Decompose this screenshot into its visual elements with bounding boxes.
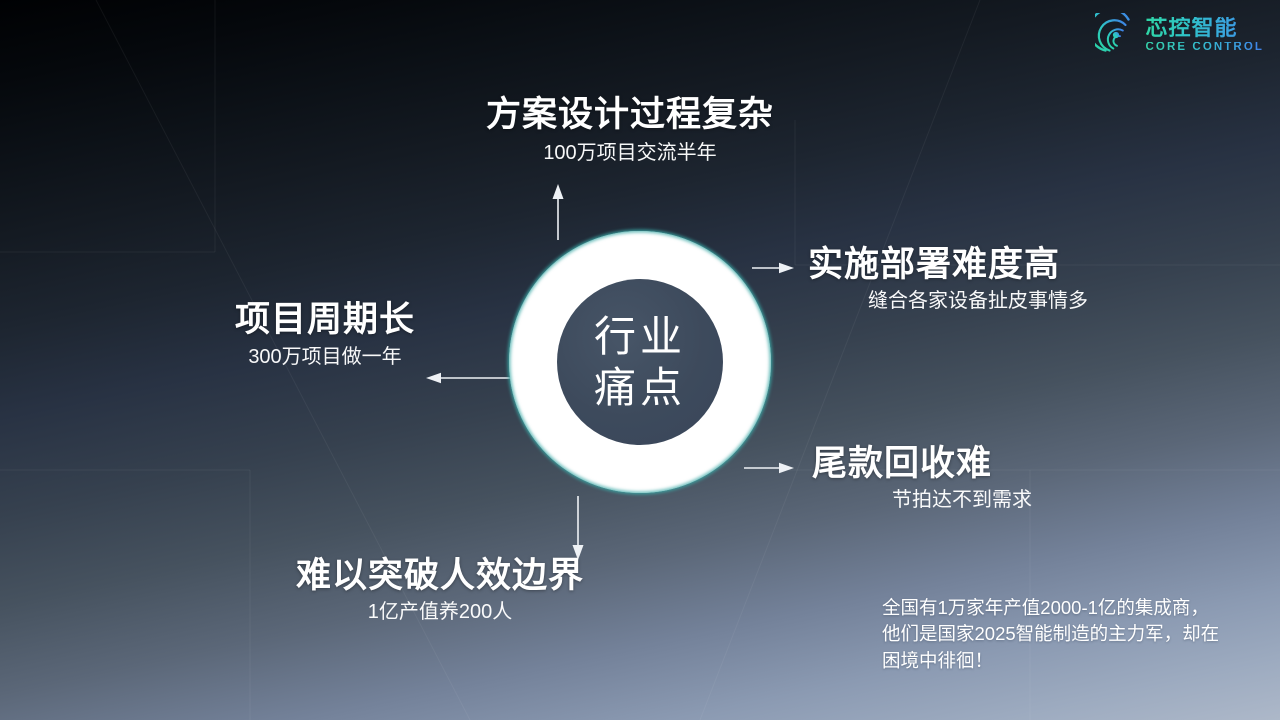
- callout-bottom: 难以突破人效边界 1亿产值养200人: [230, 556, 650, 624]
- center-ring-label: 行业 痛点: [557, 279, 723, 445]
- callout-left: 项目周期长 300万项目做一年: [160, 300, 490, 369]
- radar-waves-icon: [1095, 13, 1139, 57]
- callout-top: 方案设计过程复杂 100万项目交流半年: [400, 95, 860, 165]
- callout-left-title: 项目周期长: [160, 300, 490, 339]
- center-ring: 行业 痛点: [509, 231, 771, 493]
- footnote-text: 全国有1万家年产值2000-1亿的集成商，他们是国家2025智能制造的主力军，却…: [882, 595, 1222, 674]
- callout-right-lower-title: 尾款回收难: [812, 444, 1112, 483]
- callout-bottom-subtitle: 1亿产值养200人: [230, 600, 650, 624]
- center-label-line2: 痛点: [594, 365, 686, 410]
- callout-bottom-title: 难以突破人效边界: [230, 556, 650, 595]
- logo-english-name: CORE CONTROL: [1146, 42, 1264, 54]
- callout-left-subtitle: 300万项目做一年: [160, 345, 490, 369]
- callout-top-title: 方案设计过程复杂: [400, 95, 860, 134]
- callout-right-upper-subtitle: 缝合各家设备扯皮事情多: [808, 289, 1148, 313]
- callout-right-upper: 实施部署难度高 缝合各家设备扯皮事情多: [808, 245, 1148, 313]
- down-arrow-icon: [573, 496, 584, 560]
- slide-canvas: 芯控智能 CORE CONTROL: [0, 0, 1280, 720]
- center-label-line1: 行业: [594, 314, 686, 359]
- right-arrow-icon-upper: [752, 263, 794, 273]
- callout-right-lower-subtitle: 节拍达不到需求: [812, 488, 1112, 512]
- callout-right-lower: 尾款回收难 节拍达不到需求: [812, 444, 1112, 512]
- left-arrow-icon: [426, 373, 512, 383]
- callout-right-upper-title: 实施部署难度高: [808, 245, 1148, 284]
- brand-logo: 芯控智能 CORE CONTROL: [1095, 13, 1264, 57]
- up-arrow-icon: [553, 184, 564, 240]
- right-arrow-icon-lower: [744, 463, 794, 473]
- logo-chinese-name: 芯控智能: [1146, 17, 1264, 39]
- callout-top-subtitle: 100万项目交流半年: [400, 141, 860, 165]
